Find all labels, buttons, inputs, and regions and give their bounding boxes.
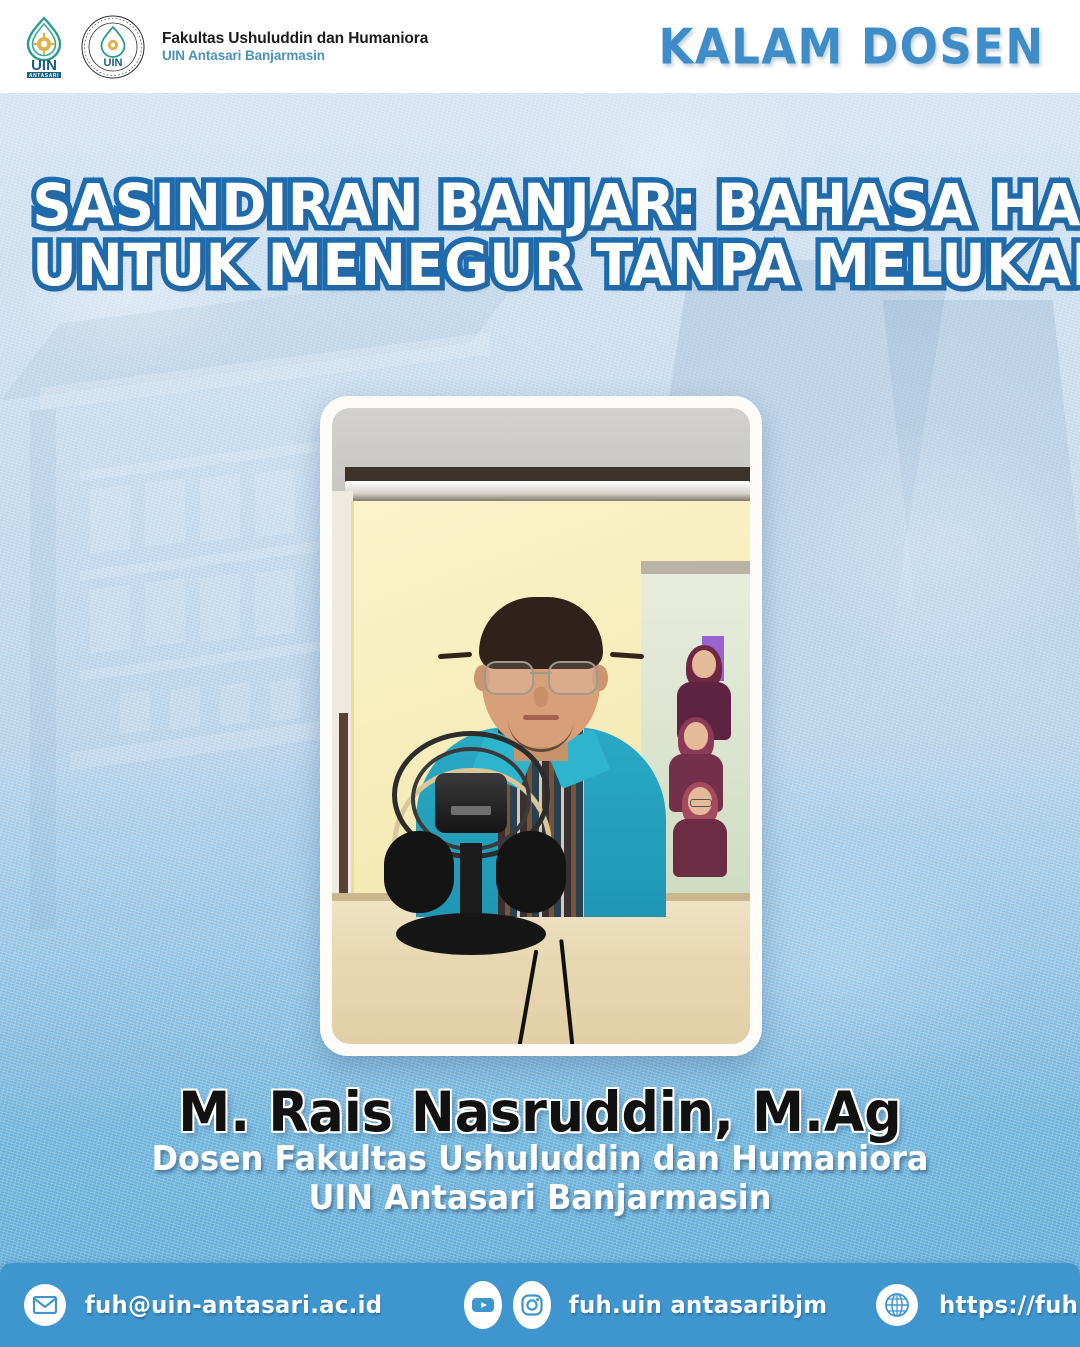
photo-left-dark-strip	[339, 713, 348, 917]
svg-text:ANTASARI: ANTASARI	[29, 73, 59, 79]
faculty-name: Fakultas Ushuluddin dan Humaniora	[162, 30, 428, 47]
svg-text:UIN: UIN	[104, 57, 123, 69]
title-line-2: UNTUK MENEGUR TANPA MELUKAI	[32, 236, 1047, 296]
contact-email-group[interactable]: fuh@uin-antasari.ac.id	[24, 1284, 390, 1326]
mic-label	[451, 806, 491, 815]
social-handle-text: fuh.uin antasaribjm	[569, 1291, 827, 1319]
banner-top-bar	[641, 561, 750, 575]
speaker-role-line-1: Dosen Fakultas Ushuluddin dan Humaniora	[32, 1140, 1047, 1179]
youtube-icon[interactable]	[464, 1281, 502, 1329]
speaker-photo-card: BA87	[320, 396, 762, 1056]
university-name: UIN Antasari Banjarmasin	[162, 48, 428, 63]
contact-website-group[interactable]: https://fuh.uin-antasari.ac.id	[876, 1284, 1080, 1326]
uin-antasari-logo: UIN ANTASARI	[16, 14, 72, 80]
faculty-name-block: Fakultas Ushuluddin dan Humaniora UIN An…	[162, 30, 428, 62]
speaker-role-line-2: UIN Antasari Banjarmasin	[32, 1179, 1047, 1218]
speaker-photo: BA87	[332, 408, 750, 1044]
microphone-and-headphones	[386, 725, 556, 955]
photo-rail	[345, 481, 750, 503]
poster-header: UIN ANTASARI UIN Fakultas Ushuluddin dan…	[0, 0, 1080, 93]
banner-person-3	[660, 787, 740, 879]
program-title: KALAM DOSEN	[658, 18, 1044, 75]
headphone-earcup-left	[384, 831, 454, 913]
globe-icon	[876, 1284, 918, 1326]
poster-title: SASINDIRAN BANJAR: BAHASA HALUS UNTUK ME…	[0, 176, 1080, 295]
logo-group: UIN ANTASARI UIN Fakultas Ushuluddin dan…	[0, 14, 428, 80]
speaker-info: M. Rais Nasruddin, M.Ag Dosen Fakultas U…	[0, 1084, 1080, 1218]
email-text: fuh@uin-antasari.ac.id	[85, 1291, 382, 1319]
website-text: https://fuh.uin-antasari.ac.id	[939, 1291, 1080, 1319]
speaker-name: M. Rais Nasruddin, M.Ag	[27, 1084, 1053, 1140]
faculty-seal-logo: UIN	[80, 14, 146, 80]
envelope-icon	[24, 1284, 66, 1326]
contact-social-group[interactable]: fuh.uin antasaribjm	[464, 1281, 834, 1329]
mic-base	[396, 913, 546, 955]
instagram-icon[interactable]	[513, 1281, 551, 1329]
poster-canvas: UIN ANTASARI UIN Fakultas Ushuluddin dan…	[0, 0, 1080, 1347]
contact-footer: fuh@uin-antasari.ac.id fuh.uin antasarib…	[0, 1263, 1080, 1347]
mic-capsule	[435, 773, 507, 833]
svg-text:UIN: UIN	[31, 57, 57, 74]
title-line-1: SASINDIRAN BANJAR: BAHASA HALUS	[32, 176, 1047, 236]
headphone-earcup-right	[496, 831, 566, 913]
